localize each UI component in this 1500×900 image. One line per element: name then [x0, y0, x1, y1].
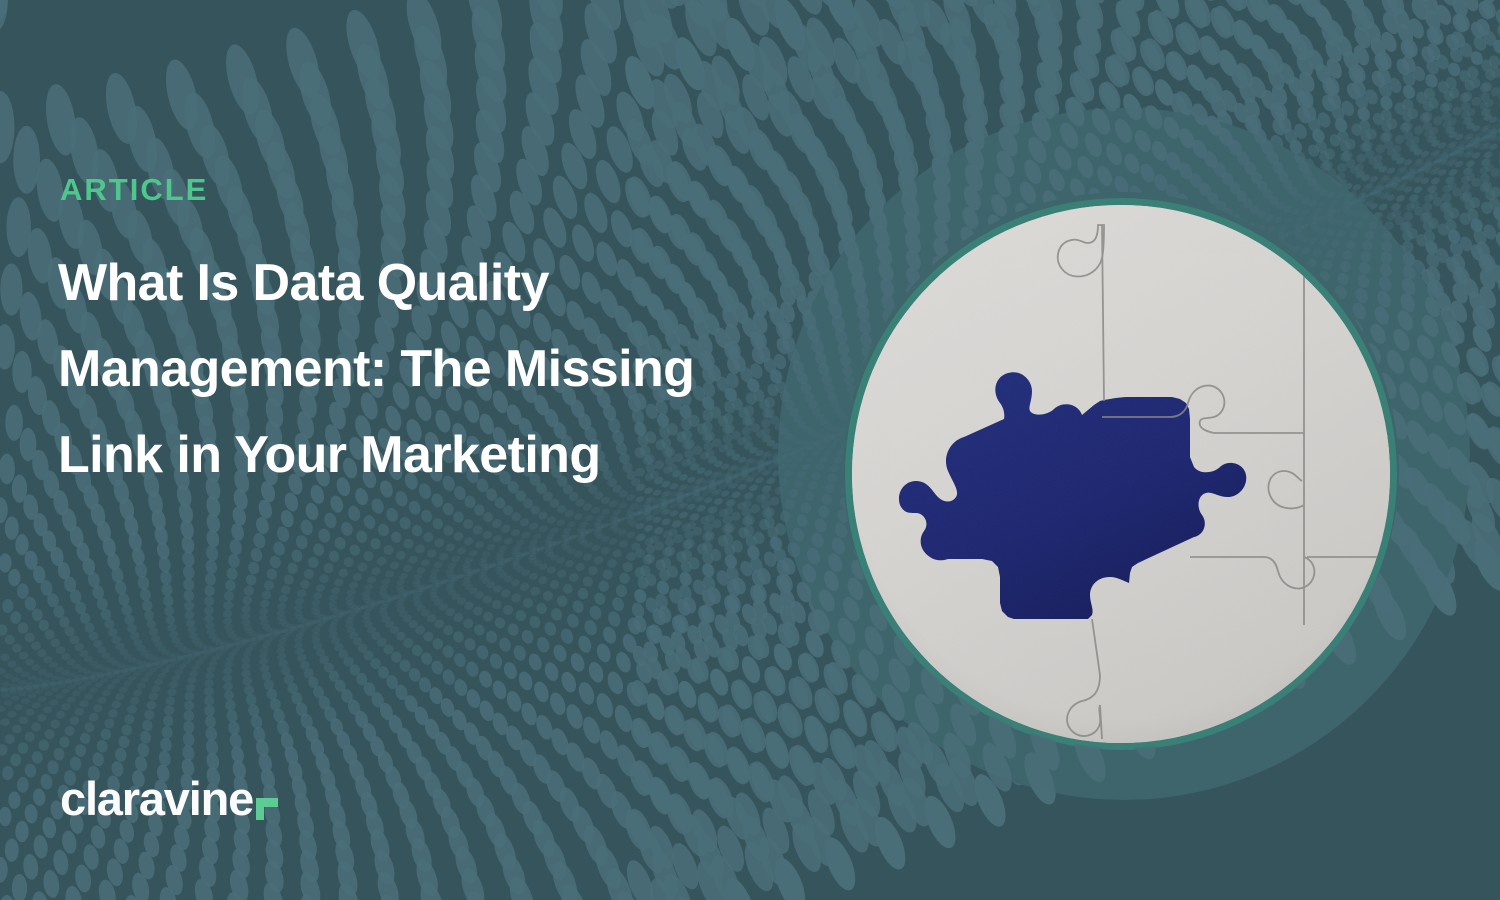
eyebrow-label: ARTICLE — [60, 174, 208, 205]
claravine-corner-mark-icon — [256, 798, 278, 820]
logo-wordmark: claravine — [60, 775, 253, 822]
article-hero-card: ARTICLE What Is Data Quality Management:… — [0, 0, 1500, 900]
text-column: ARTICLE What Is Data Quality Management:… — [58, 0, 758, 900]
page-title: What Is Data Quality Management: The Mis… — [58, 240, 698, 498]
puzzle-photo — [852, 205, 1390, 743]
claravine-logo[interactable]: claravine — [60, 768, 278, 822]
